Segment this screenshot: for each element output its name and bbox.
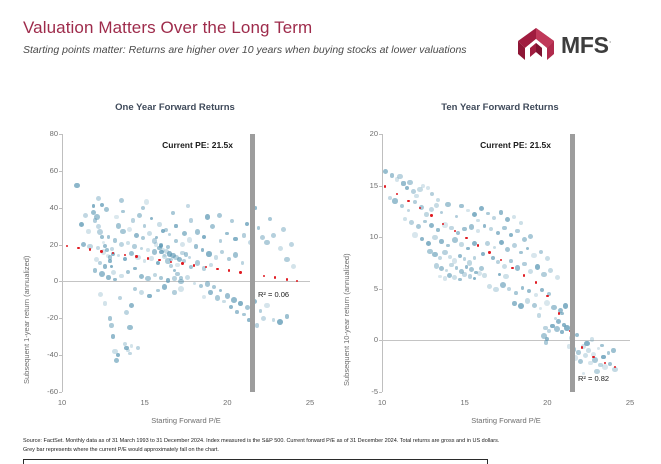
- y-tick-mark: [379, 340, 382, 341]
- data-point: [233, 252, 239, 258]
- data-point: [134, 233, 139, 238]
- data-point: [420, 237, 424, 241]
- data-point: [528, 234, 533, 239]
- data-point: [114, 358, 119, 363]
- data-point: [100, 235, 104, 239]
- data-point: [452, 275, 457, 280]
- data-point: [483, 224, 486, 227]
- data-point: [113, 278, 116, 281]
- data-point: [150, 217, 153, 220]
- r-squared-label: R² = 0.82: [578, 374, 609, 383]
- y-tick-label: 0: [32, 276, 58, 285]
- y-tick-label: 80: [32, 129, 58, 138]
- data-point: [261, 316, 266, 321]
- data-point: [449, 226, 453, 230]
- data-point: [445, 269, 448, 272]
- trendline-dot: [396, 193, 398, 195]
- data-point: [227, 257, 231, 261]
- data-point: [492, 216, 496, 220]
- data-point: [544, 300, 550, 306]
- data-point: [114, 215, 119, 220]
- trendline-dot: [228, 269, 230, 271]
- y-tick-mark: [59, 134, 62, 135]
- y-tick-label: -5: [352, 387, 378, 396]
- data-point: [185, 275, 190, 280]
- data-point: [100, 203, 104, 207]
- data-point: [539, 250, 543, 254]
- y-tick-mark: [59, 318, 62, 319]
- data-point: [217, 213, 222, 218]
- trendline-dot: [124, 254, 126, 256]
- x-tick-label: 25: [295, 398, 325, 407]
- data-point: [108, 255, 112, 259]
- data-point: [509, 259, 513, 263]
- data-point: [465, 265, 469, 269]
- data-point: [575, 333, 579, 337]
- data-point: [195, 260, 200, 265]
- data-point: [545, 256, 550, 261]
- data-point: [159, 243, 163, 247]
- data-point: [171, 211, 175, 215]
- data-point: [231, 297, 237, 303]
- y-tick-mark: [59, 208, 62, 209]
- x-tick-label: 15: [130, 398, 160, 407]
- data-point: [259, 309, 263, 313]
- data-point: [446, 244, 449, 247]
- data-point: [496, 260, 500, 264]
- trendline-dot: [205, 266, 207, 268]
- y-tick-label: 20: [352, 129, 378, 138]
- data-point: [476, 229, 480, 233]
- data-point: [136, 346, 140, 350]
- data-point: [74, 183, 79, 188]
- data-point: [459, 242, 464, 247]
- data-point: [127, 325, 132, 330]
- data-point: [562, 323, 566, 327]
- data-point: [99, 271, 105, 277]
- data-point: [525, 298, 531, 304]
- data-point: [502, 226, 507, 231]
- data-point: [532, 303, 537, 308]
- data-point: [505, 247, 510, 252]
- y-tick-mark: [379, 237, 382, 238]
- data-point: [94, 214, 100, 220]
- data-point: [186, 204, 190, 208]
- data-point: [438, 275, 442, 279]
- current-pe-label: Current PE: 21.5x: [480, 140, 551, 150]
- y-axis-title: Subsequent 10-year return (annualized): [342, 253, 351, 386]
- data-point: [180, 242, 185, 247]
- trendline-dot: [263, 275, 265, 277]
- data-point: [459, 204, 463, 208]
- data-point: [93, 268, 98, 273]
- data-point: [233, 237, 238, 242]
- data-point: [607, 351, 611, 355]
- data-point: [487, 284, 492, 289]
- data-point: [124, 310, 129, 315]
- data-point: [423, 220, 426, 223]
- data-point: [123, 257, 127, 261]
- y-tick-label: 0: [352, 335, 378, 344]
- data-point: [539, 307, 542, 310]
- data-point: [113, 238, 118, 243]
- y-tick-mark: [59, 171, 62, 172]
- trendline-dot: [274, 276, 276, 278]
- data-point: [139, 274, 144, 279]
- trendline-dot: [465, 237, 467, 239]
- y-tick-label: 20: [32, 240, 58, 249]
- data-point: [436, 228, 439, 231]
- data-point: [242, 313, 246, 317]
- y-axis-line: [62, 134, 63, 392]
- source-line-2: Grey bar represents where the current P/…: [23, 446, 643, 455]
- trendline-dot: [407, 200, 409, 202]
- data-point: [554, 326, 560, 332]
- data-point: [128, 352, 132, 356]
- data-point: [401, 181, 405, 185]
- data-point: [133, 287, 137, 291]
- data-point: [383, 169, 388, 174]
- data-point: [277, 319, 283, 325]
- y-tick-mark: [379, 289, 382, 290]
- bottom-divider-left-cap: [23, 459, 24, 464]
- data-point: [238, 301, 243, 306]
- data-point: [500, 282, 506, 288]
- data-point: [502, 264, 507, 269]
- data-point: [405, 186, 409, 190]
- data-point: [452, 237, 458, 243]
- data-point: [272, 318, 276, 322]
- data-point: [120, 229, 125, 234]
- mfs-logo: MFS·: [516, 26, 641, 66]
- trendline-dot: [100, 250, 102, 252]
- data-point: [466, 209, 470, 213]
- data-point: [281, 227, 286, 232]
- data-point: [199, 284, 203, 288]
- data-point: [143, 224, 146, 227]
- plot-area: 20151050-510152025Starting Forward P/ESu…: [382, 134, 630, 392]
- y-axis-title: Subsequent 1-year return (annualized): [22, 256, 31, 384]
- trendline-dot: [430, 214, 432, 216]
- data-point: [578, 359, 583, 364]
- data-point: [140, 247, 143, 250]
- data-point: [188, 256, 191, 259]
- data-point: [468, 274, 472, 278]
- mfs-arrow-logo-icon: [516, 26, 556, 66]
- data-point: [143, 259, 146, 262]
- data-point: [119, 198, 125, 204]
- data-point: [540, 288, 544, 292]
- data-point: [121, 210, 125, 214]
- data-point: [434, 203, 439, 208]
- data-point: [439, 266, 444, 271]
- data-point: [537, 313, 542, 318]
- data-point: [531, 253, 536, 258]
- y-tick-mark: [379, 134, 382, 135]
- data-point: [278, 246, 283, 251]
- data-point: [189, 218, 194, 223]
- data-point: [202, 295, 206, 299]
- chart-title: Ten Year Forward Returns: [340, 102, 660, 113]
- data-point: [583, 353, 588, 358]
- data-point: [229, 305, 233, 309]
- data-point: [242, 233, 246, 237]
- data-point: [161, 229, 165, 233]
- data-point: [201, 248, 205, 252]
- data-point: [555, 275, 560, 280]
- data-point: [456, 231, 460, 235]
- data-point: [126, 241, 130, 245]
- y-tick-label: -40: [32, 350, 58, 359]
- data-point: [560, 312, 564, 316]
- data-point: [92, 204, 96, 208]
- data-point: [526, 247, 530, 251]
- data-point: [432, 235, 437, 240]
- data-point: [108, 316, 113, 321]
- data-point: [496, 231, 500, 235]
- data-point: [416, 224, 421, 229]
- data-point: [503, 274, 508, 279]
- data-point: [174, 224, 177, 227]
- data-point: [390, 173, 395, 178]
- x-tick-label: 20: [532, 398, 562, 407]
- data-point: [534, 293, 538, 297]
- data-point: [489, 227, 493, 231]
- chart-ten-year-forward-returns: Ten Year Forward Returns 20151050-510152…: [340, 96, 660, 426]
- data-point: [166, 245, 170, 249]
- data-point: [264, 303, 270, 309]
- data-point: [289, 242, 294, 247]
- data-point: [473, 256, 477, 260]
- data-point: [507, 287, 511, 291]
- data-point: [426, 186, 430, 190]
- trendline-dot: [500, 259, 502, 261]
- data-point: [445, 202, 450, 207]
- data-point: [255, 323, 259, 327]
- data-point: [556, 319, 561, 324]
- data-point: [491, 256, 495, 260]
- data-point: [576, 350, 581, 355]
- data-point: [225, 232, 229, 236]
- data-point: [110, 247, 114, 251]
- y-tick-mark: [59, 392, 62, 393]
- y-tick-label: -60: [32, 387, 58, 396]
- data-point: [493, 246, 497, 250]
- data-point: [518, 303, 524, 309]
- data-point: [505, 217, 510, 222]
- data-point: [438, 256, 442, 260]
- data-point: [482, 273, 486, 277]
- trendline-dot: [384, 185, 386, 187]
- data-point: [412, 232, 418, 238]
- data-point: [560, 330, 563, 333]
- data-point: [458, 254, 462, 258]
- data-point: [156, 261, 161, 266]
- data-point: [104, 207, 109, 212]
- data-point: [110, 265, 113, 268]
- data-point: [257, 226, 260, 229]
- data-point: [111, 270, 116, 275]
- current-pe-label: Current PE: 21.5x: [162, 140, 233, 150]
- x-tick-label: 10: [47, 398, 77, 407]
- data-point: [144, 199, 150, 205]
- data-point: [219, 239, 223, 243]
- data-point: [268, 217, 272, 221]
- data-point: [209, 263, 213, 267]
- data-point: [205, 281, 211, 287]
- data-point: [230, 219, 234, 223]
- mfs-logo-text: MFS·: [561, 32, 611, 59]
- data-point: [235, 310, 239, 314]
- mfs-trademark: ·: [609, 36, 612, 46]
- plot-area: 806040200-20-40-6010152025Starting Forwa…: [62, 134, 310, 392]
- data-point: [463, 257, 466, 260]
- data-point: [563, 303, 569, 309]
- trendline-dot: [592, 356, 594, 358]
- data-point: [147, 294, 151, 298]
- data-point: [96, 196, 102, 202]
- data-point: [403, 217, 407, 221]
- trendline-dot: [239, 271, 241, 273]
- data-point: [592, 357, 598, 363]
- y-tick-label: 15: [352, 181, 378, 190]
- x-tick-label: 20: [212, 398, 242, 407]
- data-point: [162, 284, 168, 290]
- data-point: [172, 276, 177, 281]
- data-point: [169, 264, 173, 268]
- data-point: [479, 206, 484, 211]
- data-point: [522, 237, 527, 242]
- data-point: [194, 244, 198, 248]
- data-point: [116, 353, 120, 357]
- data-point: [400, 204, 404, 208]
- x-tick-label: 10: [367, 398, 397, 407]
- data-point: [397, 174, 403, 180]
- data-point: [519, 251, 522, 254]
- x-axis-title: Starting Forward P/E: [62, 416, 310, 425]
- data-point: [241, 261, 244, 264]
- data-point: [271, 233, 276, 238]
- data-point: [178, 286, 184, 292]
- data-point: [499, 240, 504, 245]
- data-point: [116, 223, 121, 228]
- data-point: [264, 240, 269, 245]
- trendline-dot: [581, 346, 583, 348]
- data-point: [177, 257, 183, 263]
- data-point: [98, 292, 103, 297]
- zero-baseline: [62, 281, 310, 282]
- data-point: [426, 241, 431, 246]
- data-point: [455, 215, 459, 219]
- data-point: [498, 273, 501, 276]
- x-tick-label: 25: [615, 398, 645, 407]
- data-point: [486, 212, 490, 216]
- data-point: [129, 251, 134, 256]
- data-point: [174, 239, 178, 243]
- trendline-dot: [477, 244, 479, 246]
- data-point: [205, 214, 210, 219]
- data-point: [86, 229, 91, 234]
- data-point: [602, 364, 608, 370]
- page-header: Valuation Matters Over the Long Term Sta…: [0, 0, 661, 88]
- chart-title: One Year Forward Returns: [10, 102, 340, 113]
- data-point: [443, 276, 448, 281]
- source-footnote: Source: FactSet. Monthly data as of 31 M…: [23, 437, 643, 454]
- y-tick-mark: [379, 392, 382, 393]
- data-point: [512, 215, 516, 219]
- data-point: [481, 252, 485, 256]
- data-point: [528, 269, 533, 274]
- data-point: [212, 285, 216, 289]
- data-point: [178, 279, 183, 284]
- data-point: [429, 223, 434, 228]
- trendline-dot: [135, 255, 137, 257]
- data-point: [141, 206, 145, 210]
- data-point: [392, 198, 397, 203]
- data-point: [455, 266, 459, 270]
- data-point: [440, 211, 444, 215]
- data-point: [133, 267, 137, 271]
- data-point: [462, 272, 466, 276]
- data-point: [156, 289, 160, 293]
- bottom-divider: [23, 459, 488, 460]
- trendline-dot: [77, 247, 79, 249]
- data-point: [129, 303, 134, 308]
- bottom-divider-right-cap: [487, 459, 488, 464]
- chart-one-year-forward-returns: One Year Forward Returns 806040200-20-40…: [10, 96, 340, 426]
- data-point: [126, 270, 130, 274]
- data-point: [193, 282, 196, 285]
- data-point: [117, 254, 120, 257]
- data-point: [83, 213, 88, 218]
- data-point: [535, 264, 540, 269]
- data-point: [222, 300, 225, 303]
- data-point: [210, 224, 215, 229]
- trendline-dot: [523, 274, 525, 276]
- data-point: [97, 229, 103, 235]
- data-point: [141, 236, 145, 240]
- data-point: [519, 221, 523, 225]
- trendline-dot: [216, 268, 218, 270]
- data-point: [81, 242, 87, 248]
- data-point: [215, 295, 220, 300]
- data-point: [119, 274, 123, 278]
- data-point: [586, 348, 591, 353]
- data-point: [157, 222, 162, 227]
- data-point: [172, 290, 177, 295]
- trendline-dot: [181, 262, 183, 264]
- data-point: [442, 250, 447, 255]
- data-point: [131, 218, 136, 223]
- y-tick-mark: [59, 355, 62, 356]
- data-point: [149, 256, 154, 261]
- data-point: [551, 305, 557, 311]
- data-point: [527, 289, 531, 293]
- data-point: [139, 290, 145, 296]
- data-point: [429, 207, 435, 213]
- data-point: [469, 267, 474, 272]
- data-point: [407, 180, 412, 185]
- trendline-dot: [89, 248, 91, 250]
- data-point: [159, 276, 163, 280]
- data-point: [521, 286, 525, 290]
- page-title: Valuation Matters Over the Long Term: [23, 18, 312, 38]
- y-tick-label: 5: [352, 284, 378, 293]
- data-point: [260, 235, 265, 240]
- data-point: [439, 239, 444, 244]
- data-point: [202, 235, 206, 239]
- data-point: [414, 194, 419, 199]
